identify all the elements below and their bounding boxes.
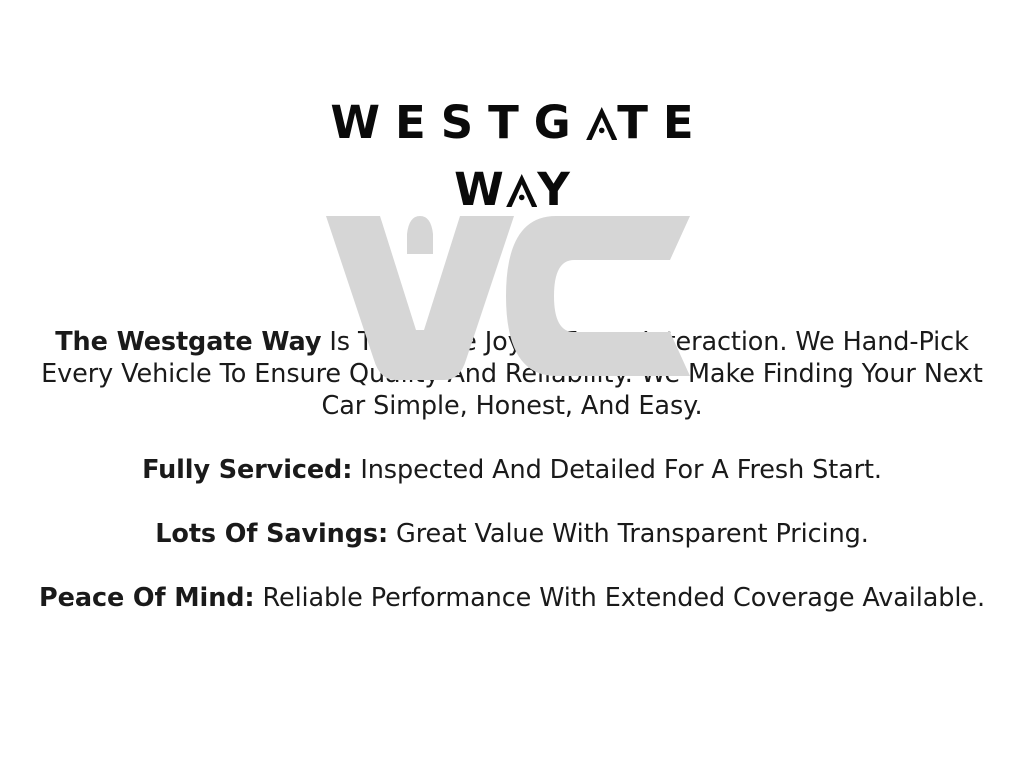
paragraph-intro: The Westgate Way Is To Create Joy In Eve… <box>26 326 998 422</box>
paragraph-lots-of-savings-rest: Great Value With Transparent Pricing. <box>388 519 869 549</box>
paragraph-fully-serviced: Fully Serviced: Inspected And Detailed F… <box>26 454 998 486</box>
paragraph-peace-of-mind-rest: Reliable Performance With Extended Cover… <box>255 583 985 613</box>
wordmark-line-way: WY <box>0 167 1024 212</box>
paragraph-fully-serviced-rest: Inspected And Detailed For A Fresh Start… <box>352 455 882 485</box>
paragraph-peace-of-mind: Peace Of Mind: Reliable Performance With… <box>26 582 998 614</box>
paragraph-intro-lead: The Westgate Way <box>55 327 321 357</box>
stylised-a-icon <box>586 107 618 140</box>
stylised-a-icon <box>506 174 538 207</box>
paragraph-lots-of-savings: Lots Of Savings: Great Value With Transp… <box>26 518 998 550</box>
paragraph-lots-of-savings-lead: Lots Of Savings: <box>155 519 388 549</box>
paragraph-peace-of-mind-lead: Peace Of Mind: <box>39 583 254 613</box>
slide-canvas: WESTGTE WY The Westgate Way Is To Create… <box>0 0 1024 768</box>
wordmark-line-westgate: WESTGTE <box>0 100 1024 145</box>
brand-logo-lockup: WESTGTE WY <box>0 100 1024 290</box>
body-copy: The Westgate Way Is To Create Joy In Eve… <box>26 326 998 614</box>
paragraph-fully-serviced-lead: Fully Serviced: <box>142 455 352 485</box>
brand-wordmark: WESTGTE WY <box>0 100 1024 212</box>
